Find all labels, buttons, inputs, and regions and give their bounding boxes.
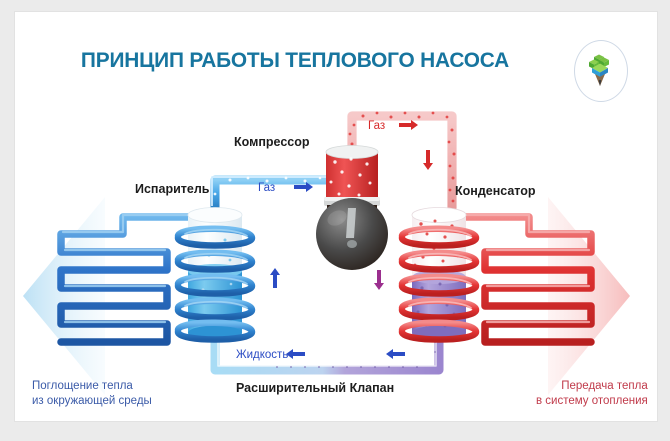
compressor-label: Компрессор <box>234 135 310 149</box>
heat-absorption-line-1: Поглощение тепла <box>32 379 152 394</box>
liquid-arrow-right-icon <box>386 349 405 359</box>
heat-pump-scene <box>15 12 657 421</box>
compressor <box>316 146 388 271</box>
heat-absorption-caption: Поглощение тепла из окружающей среды <box>32 379 152 408</box>
liquid-arrow-icon <box>286 349 305 359</box>
condenser-flow-down-arrow-icon <box>374 270 384 290</box>
heat-transfer-line-2: в систему отопления <box>536 394 648 409</box>
condenser-label: Конденсатор <box>455 184 536 198</box>
hot-gas-down-arrow-icon <box>423 150 433 170</box>
diagram-card: ПРИНЦИП РАБОТЫ ТЕПЛОВОГО НАСОСА <box>14 11 658 422</box>
gas-hot-arrow-icon <box>399 120 418 130</box>
evaporator-flow-up-arrow-icon <box>270 268 280 288</box>
heat-in-arrow-shape <box>23 197 105 395</box>
heat-transfer-line-1: Передача тепла <box>536 379 648 394</box>
heat-transfer-caption: Передача тепла в систему отопления <box>536 379 648 408</box>
heat-out-arrow-shape <box>548 197 630 395</box>
evaporator-label: Испаритель <box>135 182 209 196</box>
gas-cold-label: Газ <box>258 182 275 194</box>
heat-absorption-line-2: из окружающей среды <box>32 394 152 409</box>
gas-hot-label: Газ <box>368 120 385 132</box>
expansion-valve-label: Расширительный Клапан <box>236 381 394 395</box>
liquid-label: Жидкость <box>236 349 288 361</box>
